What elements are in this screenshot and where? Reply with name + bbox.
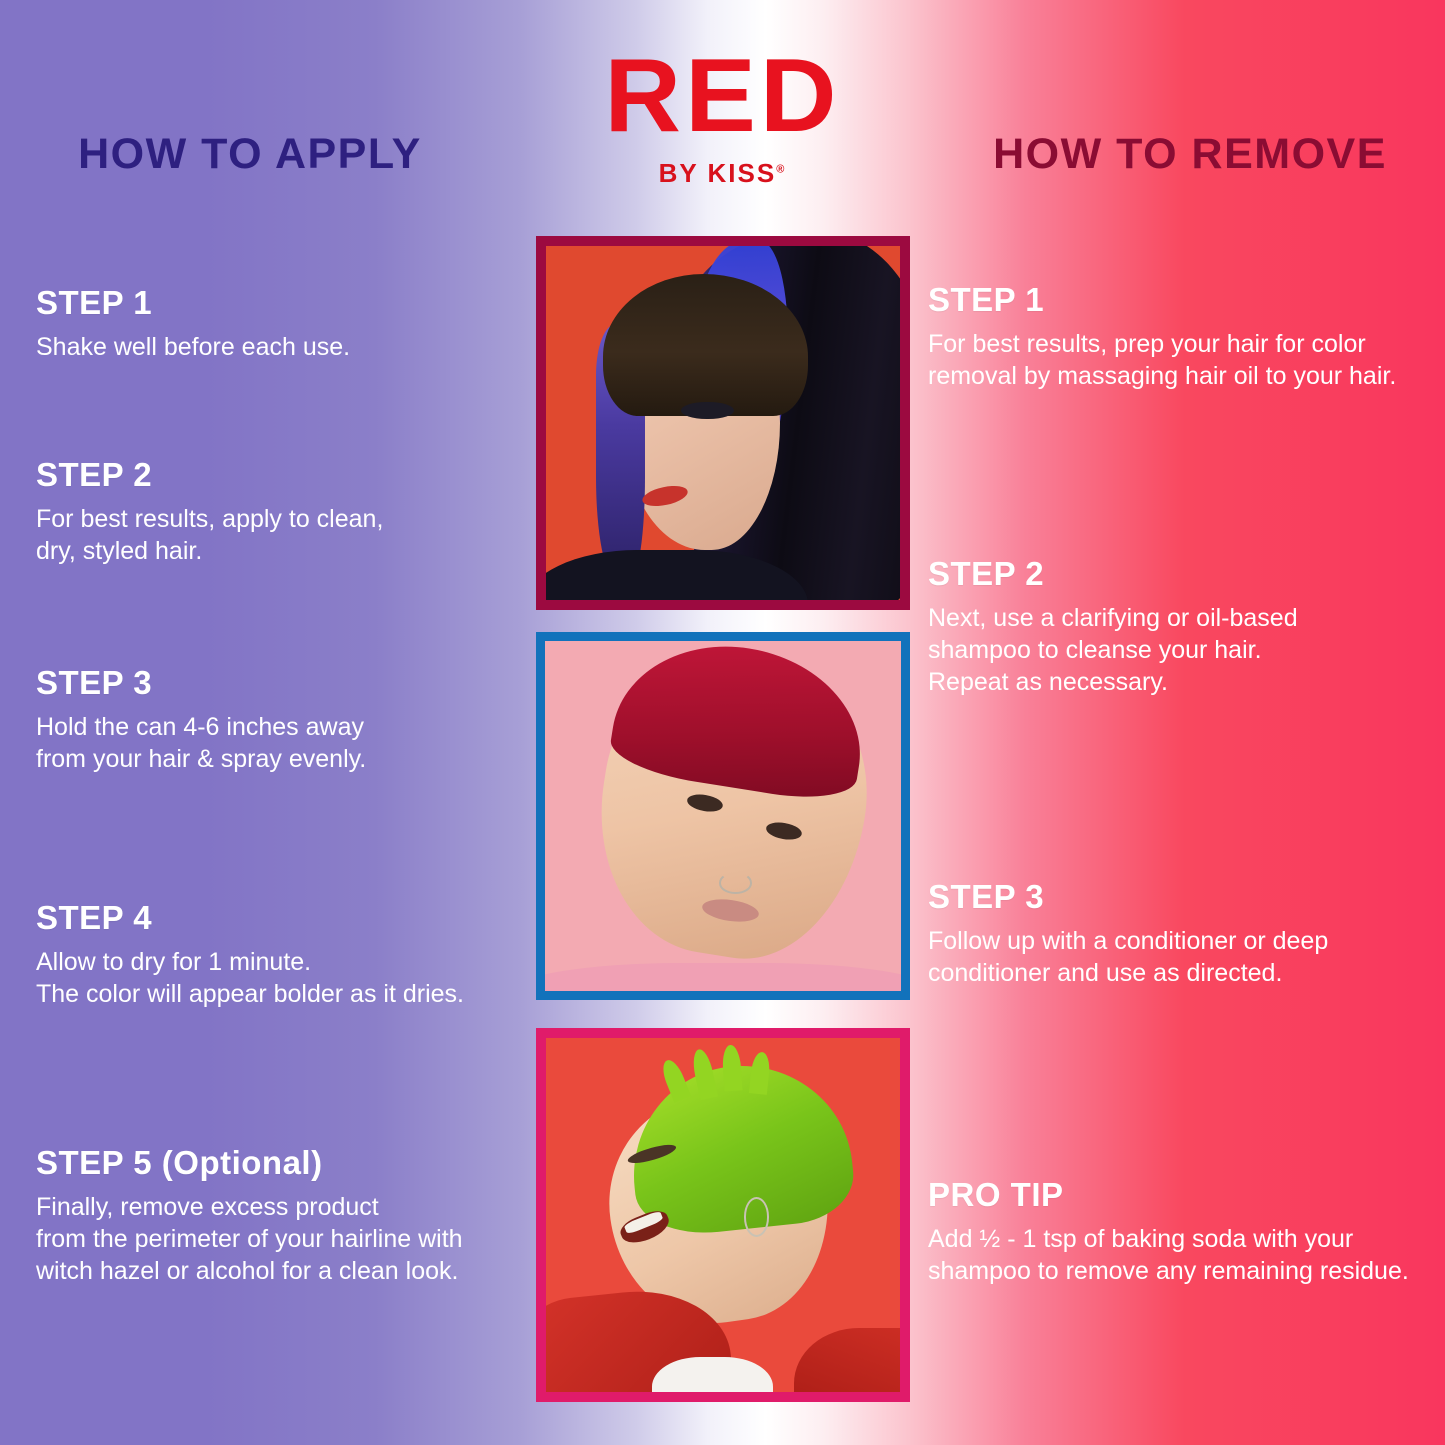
remove-step-3-title: STEP 3	[928, 880, 1328, 915]
remove-step-2: STEP 2 Next, use a clarifying or oil-bas…	[928, 557, 1298, 698]
photo-green-spiky-hair	[536, 1028, 910, 1402]
remove-steps-column: STEP 1 For best results, prep your hair …	[928, 0, 1433, 1445]
apply-step-2-body: For best results, apply to clean, dry, s…	[36, 503, 383, 567]
apply-step-4: STEP 4 Allow to dry for 1 minute. The co…	[36, 901, 464, 1010]
apply-step-5: STEP 5 (Optional) Finally, remove excess…	[36, 1146, 463, 1287]
remove-step-2-body: Next, use a clarifying or oil-based sham…	[928, 602, 1298, 698]
apply-step-1-title: STEP 1	[36, 286, 350, 321]
apply-step-2-title: STEP 2	[36, 458, 383, 493]
pro-tip-title: PRO TIP	[928, 1178, 1409, 1213]
photo2-shirt	[545, 963, 901, 991]
remove-step-1: STEP 1 For best results, prep your hair …	[928, 283, 1396, 392]
photo2-septum-ring	[719, 872, 751, 894]
apply-step-1-body: Shake well before each use.	[36, 331, 350, 363]
pro-tip: PRO TIP Add ½ - 1 tsp of baking soda wit…	[928, 1178, 1409, 1287]
photo-red-buzzcut	[536, 632, 910, 1000]
apply-step-5-body: Finally, remove excess product from the …	[36, 1191, 463, 1287]
apply-steps-column: STEP 1 Shake well before each use. STEP …	[36, 0, 506, 1445]
remove-step-3-body: Follow up with a conditioner or deep con…	[928, 925, 1328, 989]
photo-blue-black-bob-image	[546, 246, 900, 600]
infographic-canvas: RED BY KISS® HOW TO APPLY HOW TO REMOVE …	[0, 0, 1445, 1445]
remove-step-1-body: For best results, prep your hair for col…	[928, 328, 1396, 392]
apply-step-4-body: Allow to dry for 1 minute. The color wil…	[36, 946, 464, 1010]
apply-step-5-title: STEP 5 (Optional)	[36, 1146, 463, 1181]
logo-subtitle-text: BY KISS	[659, 158, 777, 188]
remove-step-2-title: STEP 2	[928, 557, 1298, 592]
apply-step-3-title: STEP 3	[36, 666, 366, 701]
photo-green-spiky-hair-image	[546, 1038, 900, 1392]
pro-tip-body: Add ½ - 1 tsp of baking soda with your s…	[928, 1223, 1409, 1287]
photo-blue-black-bob	[536, 236, 910, 610]
remove-step-3: STEP 3 Follow up with a conditioner or d…	[928, 880, 1328, 989]
apply-step-1: STEP 1 Shake well before each use.	[36, 286, 350, 363]
photo1-eye	[681, 402, 734, 420]
apply-step-2: STEP 2 For best results, apply to clean,…	[36, 458, 383, 567]
registered-trademark-icon: ®	[776, 163, 786, 175]
apply-step-3: STEP 3 Hold the can 4-6 inches away from…	[36, 666, 366, 775]
apply-step-4-title: STEP 4	[36, 901, 464, 936]
photo-red-buzzcut-image	[545, 641, 901, 991]
remove-step-1-title: STEP 1	[928, 283, 1396, 318]
apply-step-3-body: Hold the can 4-6 inches away from your h…	[36, 711, 366, 775]
